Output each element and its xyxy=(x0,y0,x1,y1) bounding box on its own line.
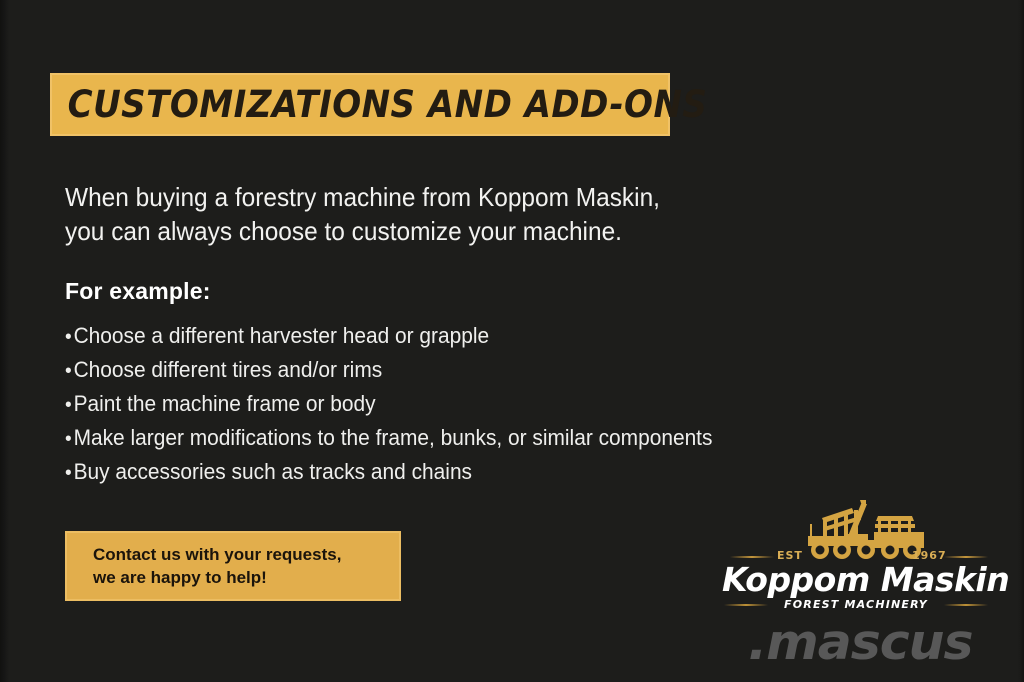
list-item-label: Choose different tires and/or rims xyxy=(74,357,383,383)
list-item: • Choose a different harvester head or g… xyxy=(65,323,787,357)
bullet-dot-icon: • xyxy=(65,395,72,415)
intro-line-1: When buying a forestry machine from Kopp… xyxy=(65,180,723,214)
subtitle-rule-right xyxy=(944,604,988,606)
title-banner: CUSTOMIZATIONS AND ADD-ONS xyxy=(50,73,670,136)
mascus-watermark: .mascus xyxy=(748,614,973,671)
company-logo: EST 1967 Koppom Maskin FOREST MACHINERY xyxy=(722,494,990,610)
list-item: • Buy accessories such as tracks and cha… xyxy=(65,459,787,493)
list-item-label: Paint the machine frame or body xyxy=(74,391,376,417)
for-example-heading: For example: xyxy=(65,278,211,305)
left-edge-shading xyxy=(0,0,9,682)
bullet-dot-icon: • xyxy=(65,327,72,347)
list-item-label: Choose a different harvester head or gra… xyxy=(74,323,490,349)
page-title: CUSTOMIZATIONS AND ADD-ONS xyxy=(52,83,707,126)
contact-line-1: Contact us with your requests, xyxy=(93,543,399,566)
intro-paragraph: When buying a forestry machine from Kopp… xyxy=(65,180,723,248)
logo-subtitle-row: FOREST MACHINERY xyxy=(722,598,990,612)
bullet-dot-icon: • xyxy=(65,361,72,381)
intro-line-2: you can always choose to customize your … xyxy=(65,214,723,248)
est-rule-left xyxy=(730,556,774,558)
est-rule-right xyxy=(944,556,988,558)
bullet-dot-icon: • xyxy=(65,463,72,483)
right-edge-shading xyxy=(1018,0,1024,682)
list-item-label: Make larger modifications to the frame, … xyxy=(74,425,713,451)
customization-options-list: • Choose a different harvester head or g… xyxy=(65,323,825,493)
advertisement-slide: CUSTOMIZATIONS AND ADD-ONS When buying a… xyxy=(0,0,1024,682)
bullet-dot-icon: • xyxy=(65,429,72,449)
logo-company-name: Koppom Maskin xyxy=(722,560,990,599)
list-item: • Paint the machine frame or body xyxy=(65,391,787,425)
contact-line-2: we are happy to help! xyxy=(93,566,399,589)
contact-cta-box[interactable]: Contact us with your requests, we are ha… xyxy=(65,531,401,601)
list-item-label: Buy accessories such as tracks and chain… xyxy=(74,459,472,485)
list-item: • Make larger modifications to the frame… xyxy=(65,425,787,459)
list-item: • Choose different tires and/or rims xyxy=(65,357,787,391)
